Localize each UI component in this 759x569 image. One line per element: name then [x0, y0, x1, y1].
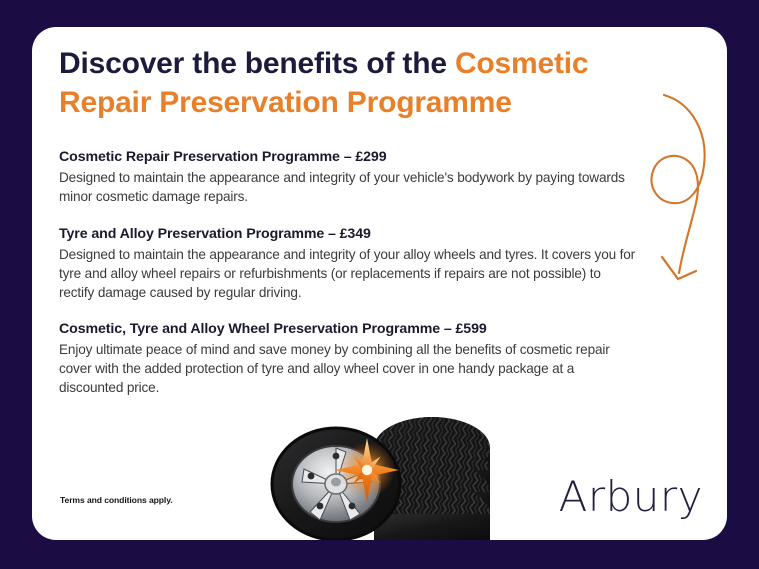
- programme-heading: Cosmetic Repair Preservation Programme –…: [59, 149, 637, 165]
- terms-and-conditions-note: Terms and conditions apply.: [60, 495, 173, 505]
- title-line1-accent: Cosmetic: [455, 47, 588, 80]
- page-title: Discover the benefits of the Cosmetic Re…: [59, 44, 649, 122]
- promo-card: Discover the benefits of the Cosmetic Re…: [32, 27, 727, 540]
- promo-graphic: Discover the benefits of the Cosmetic Re…: [0, 0, 759, 569]
- programme-block: Cosmetic Repair Preservation Programme –…: [59, 149, 637, 206]
- title-line2-accent: Repair Preservation Programme: [59, 86, 512, 119]
- programme-heading: Tyre and Alloy Preservation Programme – …: [59, 226, 637, 242]
- programme-description: Designed to maintain the appearance and …: [59, 168, 637, 206]
- arbury-logo: Arbury: [559, 472, 703, 521]
- title-line1-dark: Discover the benefits of the: [59, 47, 455, 80]
- programme-block: Cosmetic, Tyre and Alloy Wheel Preservat…: [59, 321, 637, 397]
- programme-block: Tyre and Alloy Preservation Programme – …: [59, 226, 637, 302]
- programme-description: Enjoy ultimate peace of mind and save mo…: [59, 340, 637, 397]
- tyres-illustration: [264, 412, 496, 540]
- programme-description: Designed to maintain the appearance and …: [59, 245, 637, 302]
- stacked-tyres-alloy-wheel-icon: [264, 412, 496, 540]
- programme-heading: Cosmetic, Tyre and Alloy Wheel Preservat…: [59, 321, 637, 337]
